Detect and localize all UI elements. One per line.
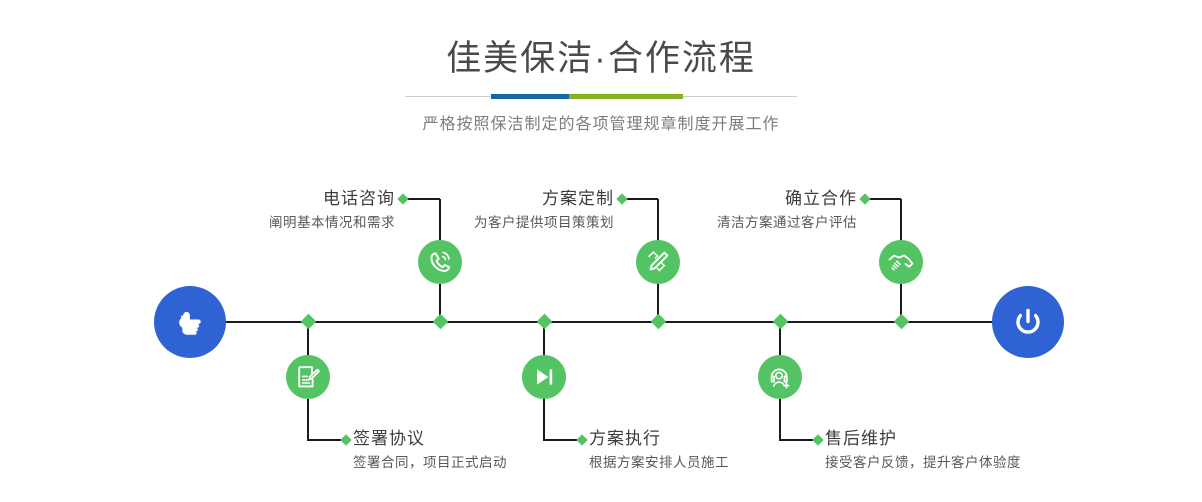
branch-marker-top-3 (859, 193, 870, 204)
axis-marker-bottom-3 (773, 314, 789, 330)
step-title: 方案定制 (412, 188, 614, 210)
play-forward-icon (530, 363, 558, 391)
connector-hline-top-2 (623, 198, 658, 200)
phone-call-icon (426, 248, 454, 276)
power-icon (1008, 302, 1048, 342)
step-label-after-sales: 售后维护 接受客户反馈，提升客户体验度 (825, 428, 1085, 473)
axis-marker-top-3 (894, 314, 910, 330)
process-flow-diagram: 电话咨询 阐明基本情况和需求 方案定制 为客户提供项目策策划 (0, 0, 1202, 502)
step-icon-phone-consult (418, 240, 462, 284)
connector-hline-top-3 (866, 198, 901, 200)
flow-start-node (154, 286, 226, 358)
step-icon-after-sales (758, 355, 802, 399)
axis-marker-bottom-2 (537, 314, 553, 330)
step-desc: 签署合同，项目正式启动 (353, 450, 593, 473)
branch-marker-top-1 (397, 193, 408, 204)
flow-end-node (992, 286, 1064, 358)
pencil-design-icon (644, 248, 672, 276)
axis-marker-top-1 (433, 314, 449, 330)
step-icon-plan-custom (636, 240, 680, 284)
branch-marker-top-2 (616, 193, 627, 204)
step-desc: 阐明基本情况和需求 (199, 210, 395, 233)
branch-marker-bottom-1 (340, 434, 351, 445)
step-label-phone-consult: 电话咨询 阐明基本情况和需求 (199, 188, 395, 233)
handshake-icon (887, 248, 915, 276)
step-title: 确立合作 (645, 188, 857, 210)
connector-hline-top-1 (404, 198, 440, 200)
step-icon-plan-execute (522, 355, 566, 399)
step-title: 电话咨询 (199, 188, 395, 210)
headset-support-icon (766, 363, 794, 391)
step-icon-sign-agreement (286, 355, 330, 399)
step-desc: 接受客户反馈，提升客户体验度 (825, 450, 1085, 473)
step-label-confirm-cooperation: 确立合作 清洁方案通过客户评估 (645, 188, 857, 233)
step-desc: 为客户提供项目策策划 (412, 210, 614, 233)
step-label-plan-execute: 方案执行 根据方案安排人员施工 (589, 428, 819, 473)
axis-marker-top-2 (651, 314, 667, 330)
step-icon-confirm-cooperation (879, 240, 923, 284)
step-label-sign-agreement: 签署协议 签署合同，项目正式启动 (353, 428, 593, 473)
axis-marker-bottom-1 (301, 314, 317, 330)
document-edit-icon (294, 363, 322, 391)
pointing-hand-icon (170, 302, 210, 342)
step-desc: 根据方案安排人员施工 (589, 450, 819, 473)
step-desc: 清洁方案通过客户评估 (645, 210, 857, 233)
step-label-plan-custom: 方案定制 为客户提供项目策策划 (412, 188, 614, 233)
flow-chart-page: 佳美保洁·合作流程 严格按照保洁制定的各项管理规章制度开展工作 (0, 0, 1202, 502)
step-title: 售后维护 (825, 428, 1085, 450)
